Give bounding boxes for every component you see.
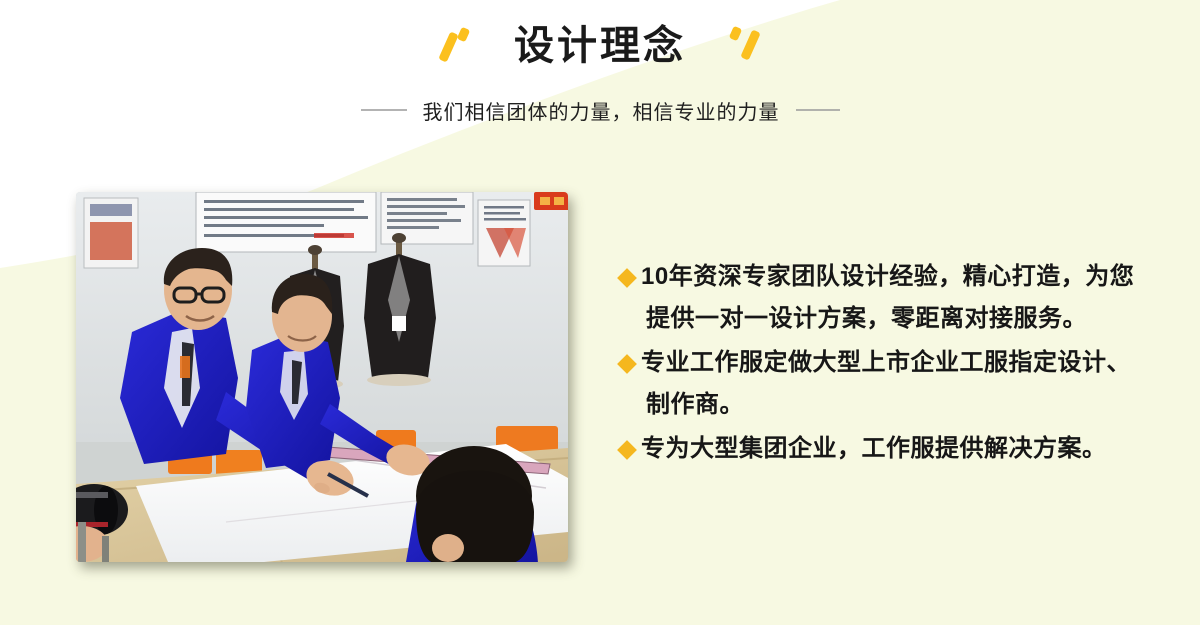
slash-dot-shape [457,27,471,43]
benefits-list: 10年资深专家团队设计经验，精心打造，为您 提供一对一设计方案，零距离对接服务。… [620,256,1180,472]
subtitle-row: 我们相信团体的力量，相信专业的力量 [0,92,1200,128]
slash-bar-shape [438,31,458,62]
benefit-item-3-line1: 专为大型集团企业，工作服提供解决方案。 [641,435,1107,462]
dash-rule-right [796,109,840,111]
benefit-item-1-line2: 提供一对一设计方案，零距离对接服务。 [646,298,1180,340]
dash-rule-left [361,109,407,111]
yellow-slash-ornament-left-icon [434,26,480,66]
diamond-bullet-icon [617,440,637,460]
page-subtitle: 我们相信团体的力量，相信专业的力量 [423,96,780,125]
photo-illustration [76,192,568,562]
slash-dot-shape [729,26,743,42]
title-row: 设计理念 [0,18,1200,74]
benefit-item-2-line2: 制作商。 [646,384,1180,426]
benefit-item-2: 专业工作服定做大型上市企业工服指定设计、 制作商。 [620,342,1180,426]
diamond-bullet-icon [617,354,637,374]
yellow-slash-ornament-right-icon [720,26,766,66]
page-title: 设计理念 [514,22,686,70]
team-design-photo [76,192,568,562]
diamond-bullet-icon [617,268,637,288]
slash-bar-shape [740,29,760,60]
benefit-item-1: 10年资深专家团队设计经验，精心打造，为您 提供一对一设计方案，零距离对接服务。 [620,256,1180,340]
poster-stage: 设计理念 我们相信团体的力量，相信专业的力量 [0,0,1200,625]
benefit-item-3: 专为大型集团企业，工作服提供解决方案。 [620,428,1180,470]
poster-header: 设计理念 我们相信团体的力量，相信专业的力量 [0,0,1200,150]
benefit-item-2-line1: 专业工作服定做大型上市企业工服指定设计、 [641,349,1131,376]
benefit-item-1-line1: 10年资深专家团队设计经验，精心打造，为您 [641,263,1134,290]
